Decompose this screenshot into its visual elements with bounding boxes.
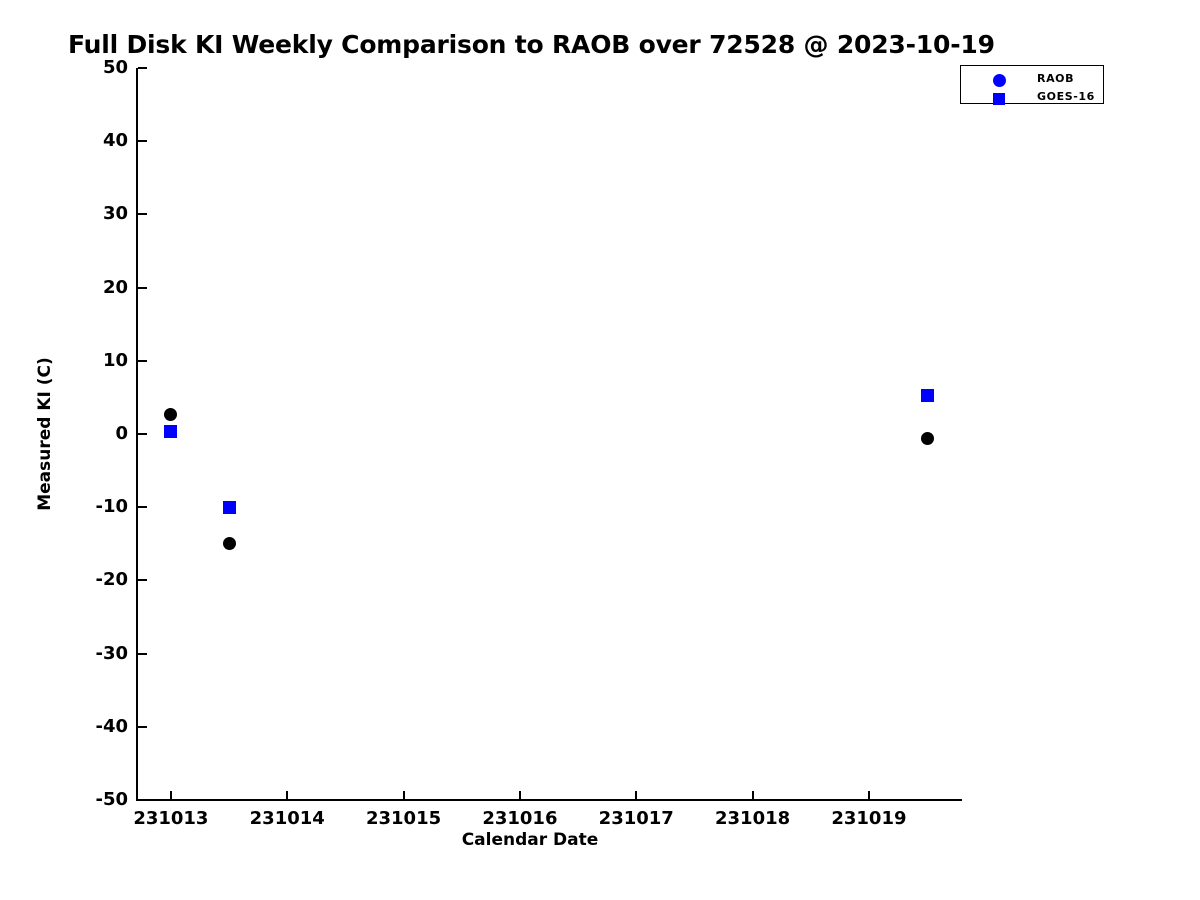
legend-label: RAOB: [1037, 72, 1074, 85]
x-tick-label: 231013: [111, 808, 231, 829]
data-point-goes-16: [223, 501, 236, 514]
x-tick-label: 231017: [576, 808, 696, 829]
legend-square-icon: [993, 93, 1005, 105]
legend-circle-icon: [993, 74, 1006, 87]
x-axis-label: Calendar Date: [0, 830, 1060, 850]
chart-title: Full Disk KI Weekly Comparison to RAOB o…: [68, 30, 995, 59]
y-tick-label: -50: [32, 789, 128, 810]
y-tick-label: 40: [32, 130, 128, 151]
data-point-raob: [921, 432, 934, 445]
data-point-goes-16: [921, 389, 934, 402]
y-axis-label: Measured KI (C): [35, 154, 55, 714]
data-point-raob: [223, 537, 236, 550]
x-tick-label: 231019: [809, 808, 929, 829]
chart-legend: RAOBGOES-16: [960, 65, 1104, 104]
plot-area: [136, 68, 962, 800]
x-tick-label: 231015: [344, 808, 464, 829]
y-tick-label: 50: [32, 57, 128, 78]
x-tick-label: 231018: [693, 808, 813, 829]
chart-figure: Full Disk KI Weekly Comparison to RAOB o…: [0, 0, 1200, 900]
y-tick-label: -40: [32, 716, 128, 737]
x-tick-label: 231016: [460, 808, 580, 829]
legend-label: GOES-16: [1037, 90, 1095, 103]
data-point-goes-16: [164, 425, 177, 438]
legend-entry-goes-16: GOES-16: [961, 90, 1105, 108]
data-point-raob: [164, 408, 177, 421]
x-tick-label: 231014: [227, 808, 347, 829]
legend-entry-raob: RAOB: [961, 72, 1105, 90]
